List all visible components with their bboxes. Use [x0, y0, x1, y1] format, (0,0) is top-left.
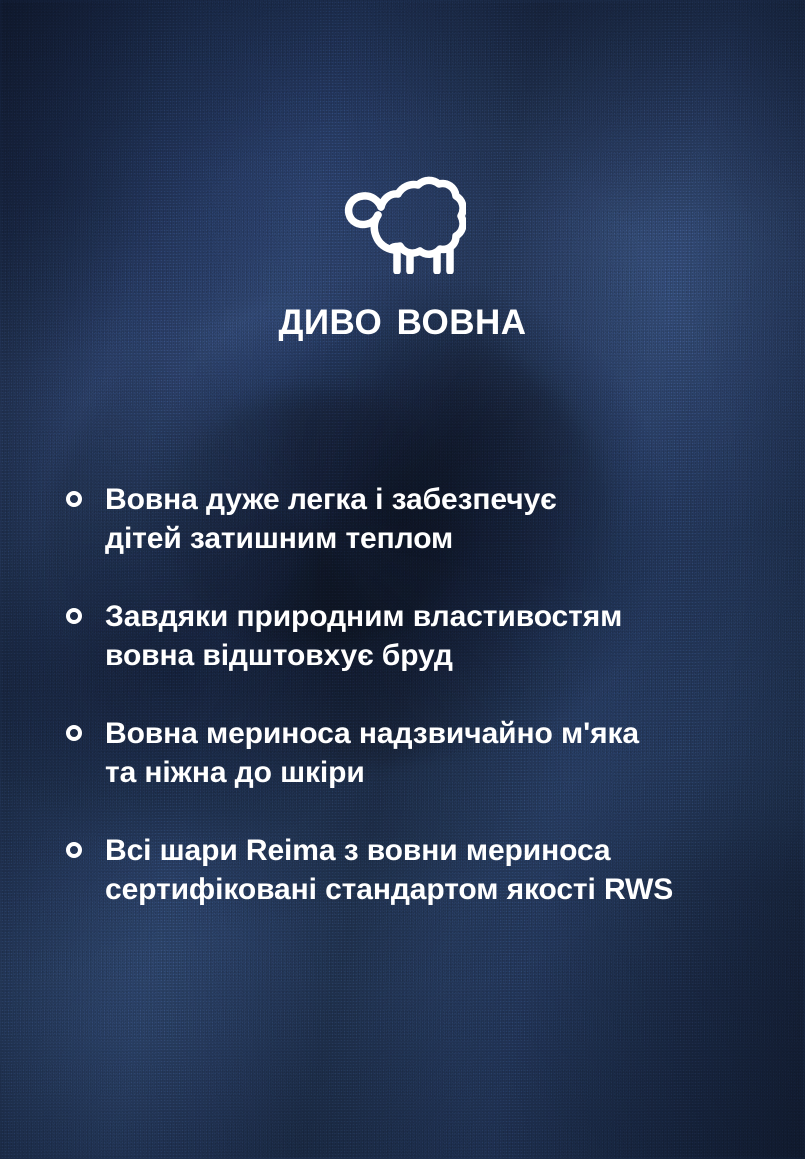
ring-bullet-icon	[66, 608, 82, 624]
list-item-label: Вовна мериноса надзвичайно м'яка та ніжн…	[105, 714, 639, 792]
wool-benefits-poster: Диво вовна Вовна дуже легка і забезпечує…	[0, 0, 805, 1159]
list-item-label: Всі шари Reima з вовни мериноса сертифік…	[105, 831, 673, 909]
list-item: Вовна мериноса надзвичайно м'яка та ніжн…	[66, 714, 775, 792]
list-item-label: Вовна дуже легка і забезпечує дітей зати…	[105, 480, 557, 558]
list-item-label: Завдяки природним властивостям вовна від…	[105, 597, 622, 675]
list-item: Завдяки природним властивостям вовна від…	[66, 597, 775, 675]
ring-bullet-icon	[66, 842, 82, 858]
list-item: Всі шари Reima з вовни мериноса сертифік…	[66, 831, 775, 909]
ring-bullet-icon	[66, 491, 82, 507]
poster-content: Диво вовна Вовна дуже легка і забезпечує…	[0, 0, 805, 1159]
benefits-list: Вовна дуже легка і забезпечує дітей зати…	[66, 480, 775, 909]
page-title: Диво вовна	[0, 288, 805, 346]
ring-bullet-icon	[66, 725, 82, 741]
list-item: Вовна дуже легка і забезпечує дітей зати…	[66, 480, 775, 558]
sheep-icon	[0, 176, 805, 274]
